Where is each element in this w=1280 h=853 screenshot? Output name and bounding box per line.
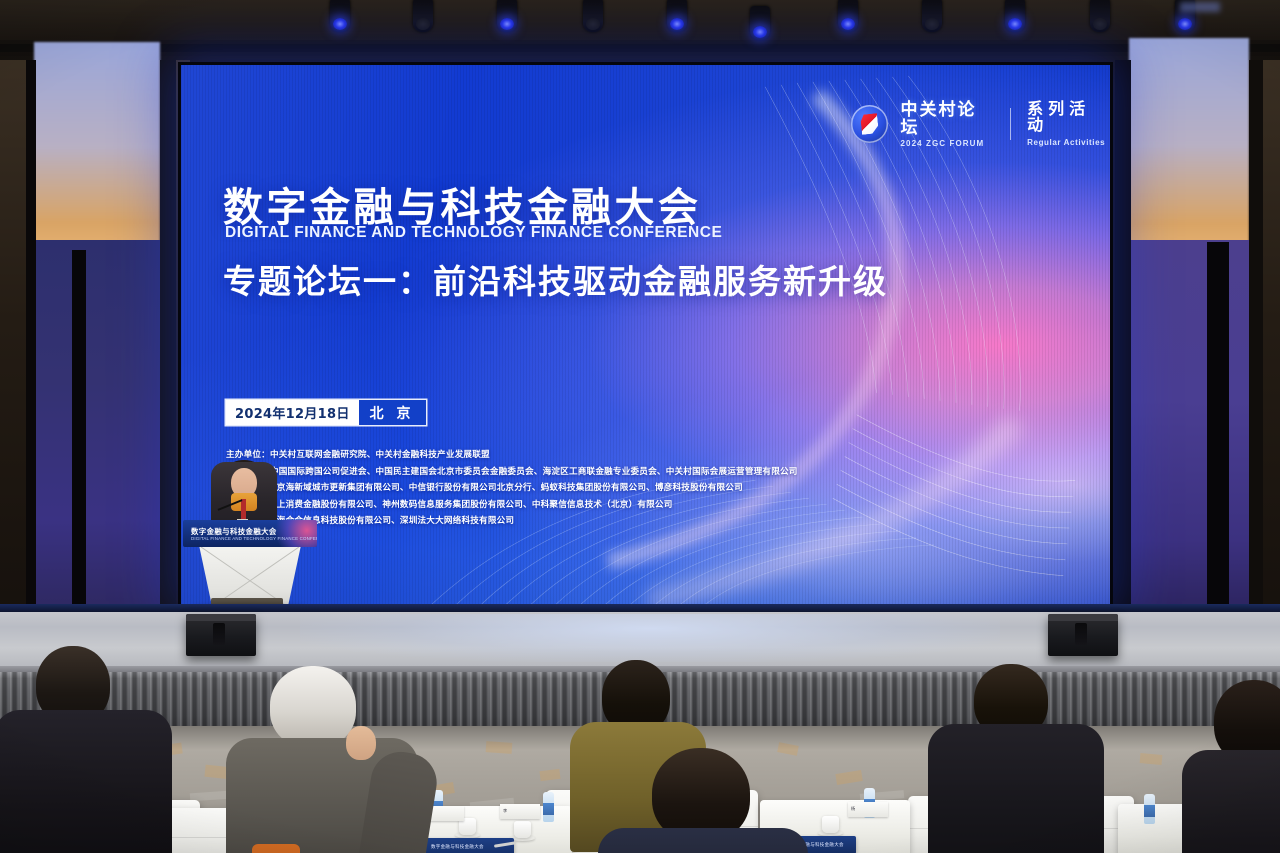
name-card-text: 李 <box>503 808 507 814</box>
podium-area: 数字金融与科技金融大会 DIGITAL FINANCE AND TECHNOLO… <box>175 462 325 612</box>
zgc-forum-emblem-icon <box>851 105 888 143</box>
zgc-forum-logo: 中关村论坛 2024 ZGC FORUM 系列活动 Regular Activi… <box>851 101 1110 148</box>
organizer-line: 北京海新域城市更新集团有限公司、中信银行股份有限公司北京分行、蚂蚁科技集团股份有… <box>226 480 926 497</box>
logo-series-cn: 系列活动 <box>1027 102 1110 136</box>
coffee-cup <box>822 816 839 833</box>
event-city: 北 京 <box>359 400 426 425</box>
moving-head-light <box>922 0 942 32</box>
name-card-text: 杨 <box>851 806 855 812</box>
person-head <box>270 666 356 748</box>
lighting-truss <box>0 0 1280 40</box>
coffee-cup <box>514 821 531 838</box>
podium-sign-en: DIGITAL FINANCE AND TECHNOLOGY FINANCE C… <box>191 536 317 541</box>
moving-head-light <box>413 0 433 32</box>
water-bottle <box>543 792 554 822</box>
stage-right-wall-panel <box>1115 60 1280 640</box>
moving-head-light <box>667 0 687 32</box>
person-body <box>598 828 808 853</box>
moving-head-light <box>750 6 770 40</box>
program-card-text: 数字金融与科技金融大会 <box>431 844 484 850</box>
stage-left-wall-panel <box>0 60 190 640</box>
moving-head-light <box>330 0 350 32</box>
moving-head-light <box>838 0 858 32</box>
moving-head-light <box>583 0 603 32</box>
stage-monitor-speaker <box>1048 614 1118 656</box>
person-scarf <box>252 844 300 853</box>
logo-cn-name: 中关村论坛 <box>900 101 994 137</box>
stage-monitor-speaker <box>186 614 256 656</box>
date-location-badge: 2024年12月18日 北 京 <box>226 400 426 425</box>
name-card: 杨 <box>848 802 888 817</box>
organizer-line: 马上消费金融股份有限公司、神州数码信息服务集团股份有限公司、中科聚信信息技术（北… <box>226 497 926 514</box>
logo-series-en: Regular Activities <box>1027 138 1110 147</box>
moving-head-light <box>1090 0 1110 32</box>
ceiling-accent-glow <box>1180 2 1220 12</box>
person-hand <box>346 726 376 760</box>
podium-sign-panel: 数字金融与科技金融大会 DIGITAL FINANCE AND TECHNOLO… <box>183 520 317 547</box>
organizer-line: 支持单位：中国国际跨国公司促进会、中国民主建国会北京市委员会金融委员会、海淀区工… <box>226 464 926 481</box>
organizer-line: 上海合合信息科技股份有限公司、深圳法大大网络科技有限公司 <box>226 513 926 530</box>
water-bottle <box>1144 794 1155 824</box>
logo-en-name: 2024 ZGC FORUM <box>900 139 994 148</box>
moving-head-light <box>497 0 517 32</box>
event-date: 2024年12月18日 <box>226 400 359 425</box>
forum-subtitle-cn: 专题论坛一：前沿科技驱动金融服务新升级 <box>223 255 888 303</box>
stage-floor-light <box>300 614 1000 662</box>
person-body <box>928 724 1104 853</box>
moving-head-light <box>1005 0 1025 32</box>
conference-hall-scene: 中关村论坛 2024 ZGC FORUM 系列活动 Regular Activi… <box>0 0 1280 853</box>
person-body <box>0 710 172 853</box>
person-body <box>1182 750 1280 853</box>
logo-divider <box>1010 108 1011 140</box>
conference-title-en: DIGITAL FINANCE AND TECHNOLOGY FINANCE C… <box>225 224 722 242</box>
organizer-list: 主办单位：中关村互联网金融研究院、中关村金融科技产业发展联盟 支持单位：中国国际… <box>226 447 926 530</box>
ceiling-beam <box>0 44 1280 52</box>
name-card: 李 <box>500 804 540 819</box>
organizer-line: 主办单位：中关村互联网金融研究院、中关村金融科技产业发展联盟 <box>226 447 926 464</box>
